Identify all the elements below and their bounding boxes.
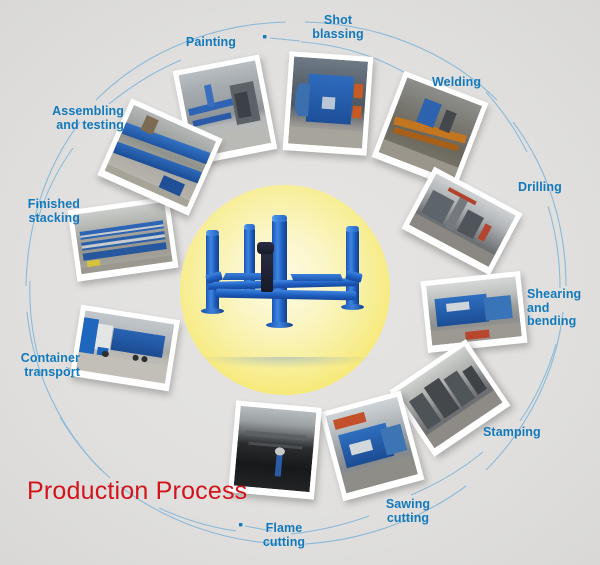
label-shearing-and-bending: Shearing and bending <box>527 288 599 329</box>
label-stamping: Stamping <box>483 426 573 440</box>
label-sawing-cutting: Sawing cutting <box>371 498 445 525</box>
photo-finished-stacking-image <box>73 202 172 274</box>
page-title: Production Process <box>27 477 247 506</box>
photo-shearing-and-bending-image <box>426 276 522 345</box>
label-finished-stacking: Finished stacking <box>0 198 80 225</box>
label-flame-cutting: Flame cutting <box>249 522 319 549</box>
label-drilling: Drilling <box>518 181 598 195</box>
photo-shot-blassing[interactable] <box>283 51 374 156</box>
label-container-transport: Container transport <box>2 352 80 379</box>
label-assembling-and-testing: Assembling and testing <box>32 105 124 132</box>
photo-finished-stacking[interactable] <box>67 196 178 281</box>
photo-container-transport-image <box>76 310 174 383</box>
photo-shearing-and-bending[interactable] <box>421 271 528 353</box>
photo-sawing-cutting-image <box>326 397 418 493</box>
photo-container-transport[interactable] <box>70 305 180 392</box>
label-welding: Welding <box>432 76 522 90</box>
production-process-infographic: Shot blassing Welding Drilling Shearing … <box>0 0 600 565</box>
photo-shot-blassing-image <box>288 57 368 149</box>
label-shot-blassing: Shot blassing <box>298 14 378 41</box>
car-lift-illustration <box>196 218 376 363</box>
label-painting: Painting <box>160 36 236 50</box>
